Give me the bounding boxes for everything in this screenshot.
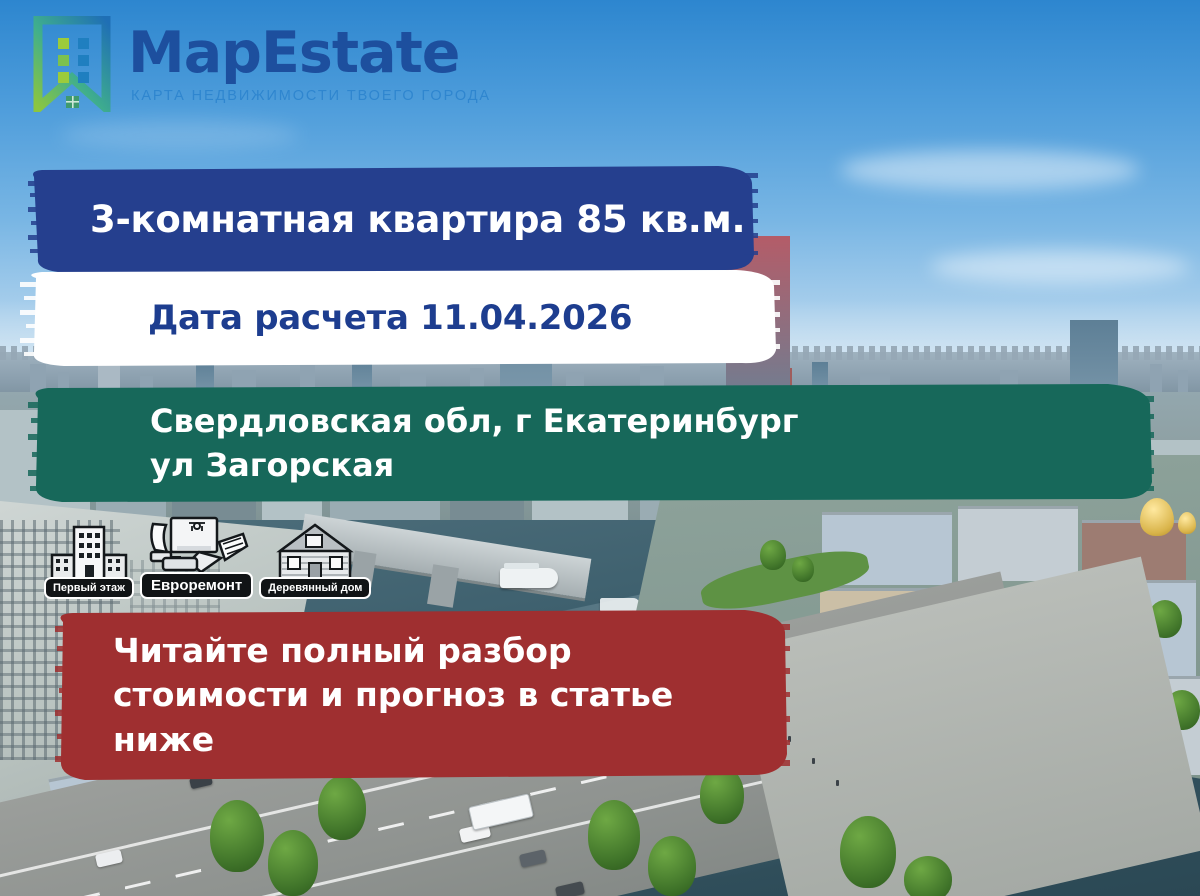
cta-line-1: Читайте полный разбор xyxy=(55,629,790,674)
call-to-action-banner[interactable]: Читайте полный разбор стоимости и прогно… xyxy=(55,608,790,783)
badge-label: Первый этаж xyxy=(44,577,134,599)
promo-card: MapEstate КАРТА НЕДВИЖИМОСТИ ТВОЕГО ГОРО… xyxy=(0,0,1200,896)
badge-euro-renovation[interactable]: Евроремонт xyxy=(140,512,253,599)
cloud xyxy=(840,150,1140,190)
badge-first-floor[interactable]: Первый этаж xyxy=(44,521,134,599)
cloud xyxy=(930,250,1190,284)
logo[interactable]: MapEstate КАРТА НЕДВИЖИМОСТИ ТВОЕГО ГОРО… xyxy=(30,16,491,112)
badge-label: Деревянный дом xyxy=(259,577,371,599)
calculation-date-banner: Дата расчета 11.04.2026 xyxy=(20,268,780,368)
bookmark-building-icon xyxy=(30,16,114,112)
badge-wooden-house[interactable]: Деревянный дом xyxy=(259,521,371,599)
cta-line-3: ниже xyxy=(55,718,790,763)
wooden-house-icon xyxy=(272,521,358,583)
cta-line-2: стоимости и прогноз в статье xyxy=(55,673,790,718)
badge-label: Евроремонт xyxy=(140,572,253,599)
logo-tagline: КАРТА НЕДВИЖИМОСТИ ТВОЕГО ГОРОДА xyxy=(131,89,491,104)
brand-header: MapEstate КАРТА НЕДВИЖИМОСТИ ТВОЕГО ГОРО… xyxy=(0,0,1200,140)
feature-badges: Первый этаж Евроремонт xyxy=(44,512,371,599)
address-region-city: Свердловская обл, г Екатеринбург xyxy=(28,400,1154,443)
logo-wordmark: MapEstate xyxy=(128,25,491,82)
property-title-text: 3-комнатная квартира 85 кв.м. xyxy=(28,198,758,241)
boat xyxy=(500,568,558,588)
address-street: ул Загорская xyxy=(28,444,1154,487)
property-title-banner: 3-комнатная квартира 85 кв.м. xyxy=(28,163,758,276)
address-banner: Свердловская обл, г Екатеринбург ул Заго… xyxy=(28,382,1154,505)
calculation-date-text: Дата расчета 11.04.2026 xyxy=(20,298,780,338)
apartment-building-icon xyxy=(46,521,132,583)
renovation-tools-icon xyxy=(145,512,249,578)
building xyxy=(958,506,1078,581)
church-dome-icon xyxy=(1178,512,1196,534)
